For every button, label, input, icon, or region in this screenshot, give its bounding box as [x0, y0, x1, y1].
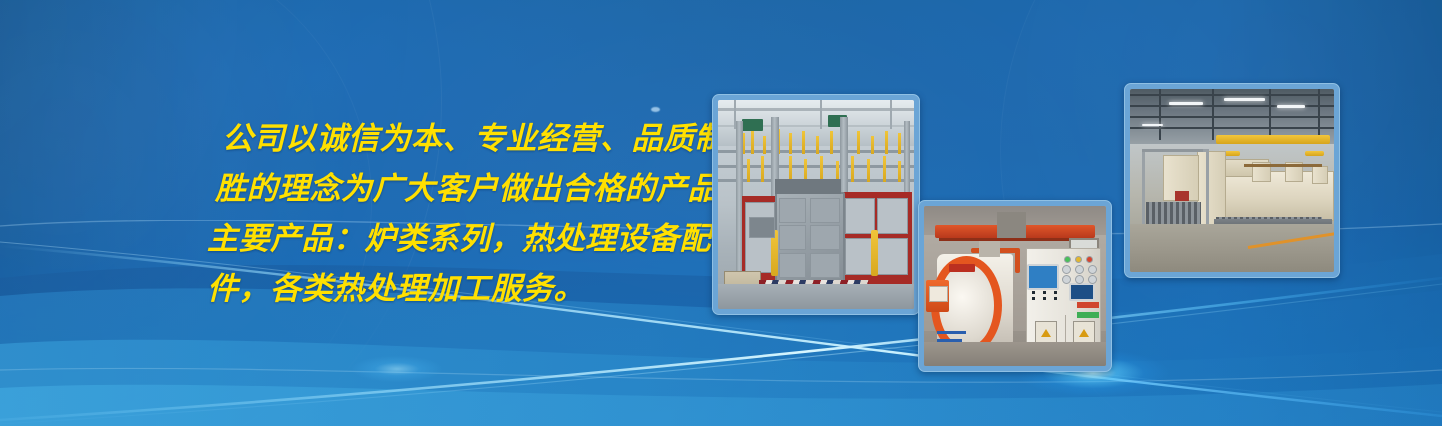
light-speck-artifact	[651, 107, 660, 112]
headline-line-2: 胜的理念为广大客户做出合格的产品。	[200, 164, 730, 214]
photo-sealed-quench-furnace-hall	[718, 100, 914, 309]
photo-vacuum-furnace-control-cabinet	[924, 206, 1106, 366]
headline-line-3: 主要产品：炉类系列，热处理设备配	[200, 214, 730, 264]
photo-frame-continuous-furnace[interactable]	[1124, 83, 1340, 278]
photo-frame-vacuum-furnace[interactable]	[918, 200, 1112, 372]
headline-line-1: 公司以诚信为本、专业经营、品质制	[200, 114, 730, 164]
headline-line-4: 件，各类热处理加工服务。	[200, 264, 730, 314]
company-banner: 公司以诚信为本、专业经营、品质制 胜的理念为广大客户做出合格的产品。 主要产品：…	[0, 0, 1442, 426]
page-title: 公司以诚信为本、专业经营、品质制 胜的理念为广大客户做出合格的产品。 主要产品：…	[200, 114, 730, 314]
photo-frame-sealed-quench-furnace[interactable]	[712, 94, 920, 315]
photo-continuous-mesh-belt-furnace	[1130, 89, 1334, 272]
